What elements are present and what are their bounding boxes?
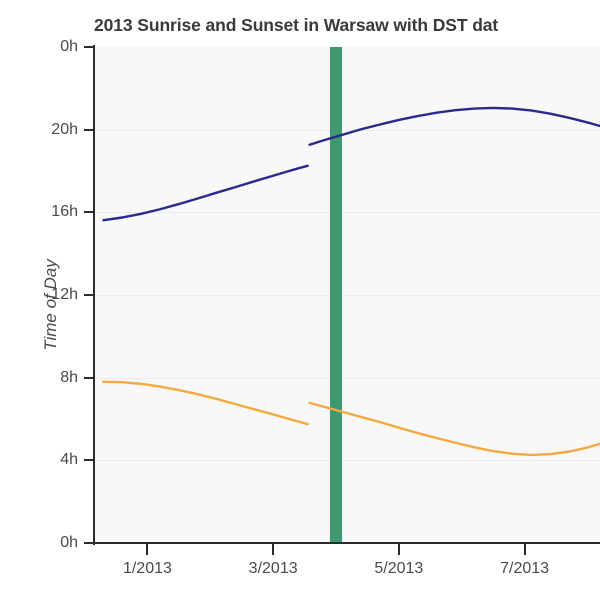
x-tick-label: 7/2013 [465,560,585,578]
series-line-sunset [310,108,600,145]
y-tick-mark [84,294,94,296]
y-tick-label: 0h [8,39,78,55]
y-tick-mark [84,377,94,379]
y-tick-label: 16h [8,204,78,220]
series-line-sunrise [310,403,600,455]
y-tick-label: 12h [8,287,78,303]
series-line-sunset [103,166,307,220]
y-axis-title: Time of Day [41,230,61,380]
chart-canvas: 2013 Sunrise and Sunset in Warsaw with D… [0,0,600,600]
x-tick-label: 1/2013 [87,560,207,578]
chart-title: 2013 Sunrise and Sunset in Warsaw with D… [94,14,498,36]
series-line-sunrise [103,382,307,424]
y-tick-label: 0h [8,535,78,551]
y-tick-label: 8h [8,370,78,386]
y-tick-mark [84,129,94,131]
x-tick-mark [146,544,148,555]
series-lines [94,47,600,543]
y-tick-mark [84,542,94,544]
x-tick-label: 5/2013 [339,560,459,578]
x-tick-mark [272,544,274,555]
x-tick-mark [524,544,526,555]
x-tick-mark [398,544,400,555]
y-tick-mark [84,211,94,213]
y-tick-mark [84,46,94,48]
y-tick-label: 4h [8,452,78,468]
y-tick-mark [84,459,94,461]
plot-area [94,47,600,543]
y-tick-label: 20h [8,122,78,138]
x-tick-label: 3/2013 [213,560,333,578]
